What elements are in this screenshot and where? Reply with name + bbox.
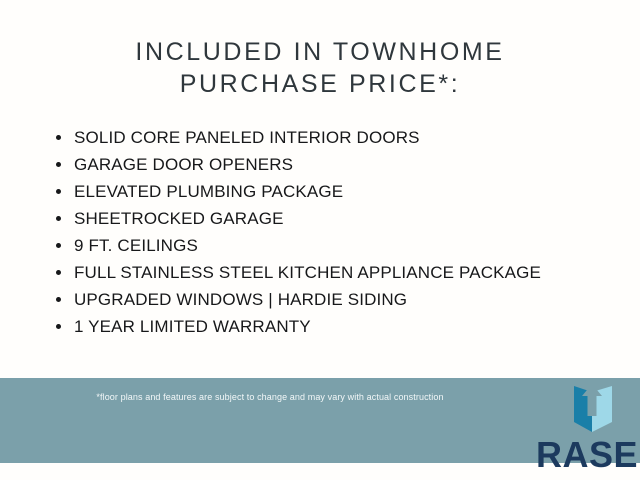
list-item: FULL STAINLESS STEEL KITCHEN APPLIANCE P… — [52, 259, 622, 286]
bullet-icon — [56, 270, 61, 275]
bullet-icon — [56, 162, 61, 167]
bullet-icon — [56, 243, 61, 248]
page-title-line-2: PURCHASE PRICE*: — [0, 68, 640, 100]
list-item-label: 9 FT. CEILINGS — [74, 236, 198, 255]
list-item-label: GARAGE DOOR OPENERS — [74, 155, 293, 174]
brand-logo: RASE — [536, 382, 640, 480]
bullet-icon — [56, 135, 61, 140]
list-item: ELEVATED PLUMBING PACKAGE — [52, 178, 622, 205]
list-item: SHEETROCKED GARAGE — [52, 205, 622, 232]
list-item-label: FULL STAINLESS STEEL KITCHEN APPLIANCE P… — [74, 263, 541, 282]
page-title: INCLUDED IN TOWNHOME PURCHASE PRICE*: — [0, 36, 640, 100]
list-item-label: 1 YEAR LIMITED WARRANTY — [74, 317, 311, 336]
logo-wordmark: RASE — [536, 434, 640, 476]
list-item-label: UPGRADED WINDOWS | HARDIE SIDING — [74, 290, 407, 309]
list-item: 1 YEAR LIMITED WARRANTY — [52, 313, 622, 340]
cube-arrow-icon — [568, 382, 616, 434]
disclaimer-text: *floor plans and features are subject to… — [0, 391, 540, 403]
page-title-line-1: INCLUDED IN TOWNHOME — [0, 36, 640, 68]
bullet-icon — [56, 297, 61, 302]
included-features-list: SOLID CORE PANELED INTERIOR DOORS GARAGE… — [52, 124, 622, 340]
bullet-icon — [56, 216, 61, 221]
list-item-label: SOLID CORE PANELED INTERIOR DOORS — [74, 128, 420, 147]
promotional-slide: INCLUDED IN TOWNHOME PURCHASE PRICE*: SO… — [0, 0, 640, 480]
bullet-icon — [56, 189, 61, 194]
list-item-label: SHEETROCKED GARAGE — [74, 209, 284, 228]
list-item: 9 FT. CEILINGS — [52, 232, 622, 259]
list-item: GARAGE DOOR OPENERS — [52, 151, 622, 178]
list-item: SOLID CORE PANELED INTERIOR DOORS — [52, 124, 622, 151]
list-item-label: ELEVATED PLUMBING PACKAGE — [74, 182, 343, 201]
list-item: UPGRADED WINDOWS | HARDIE SIDING — [52, 286, 622, 313]
bullet-icon — [56, 324, 61, 329]
